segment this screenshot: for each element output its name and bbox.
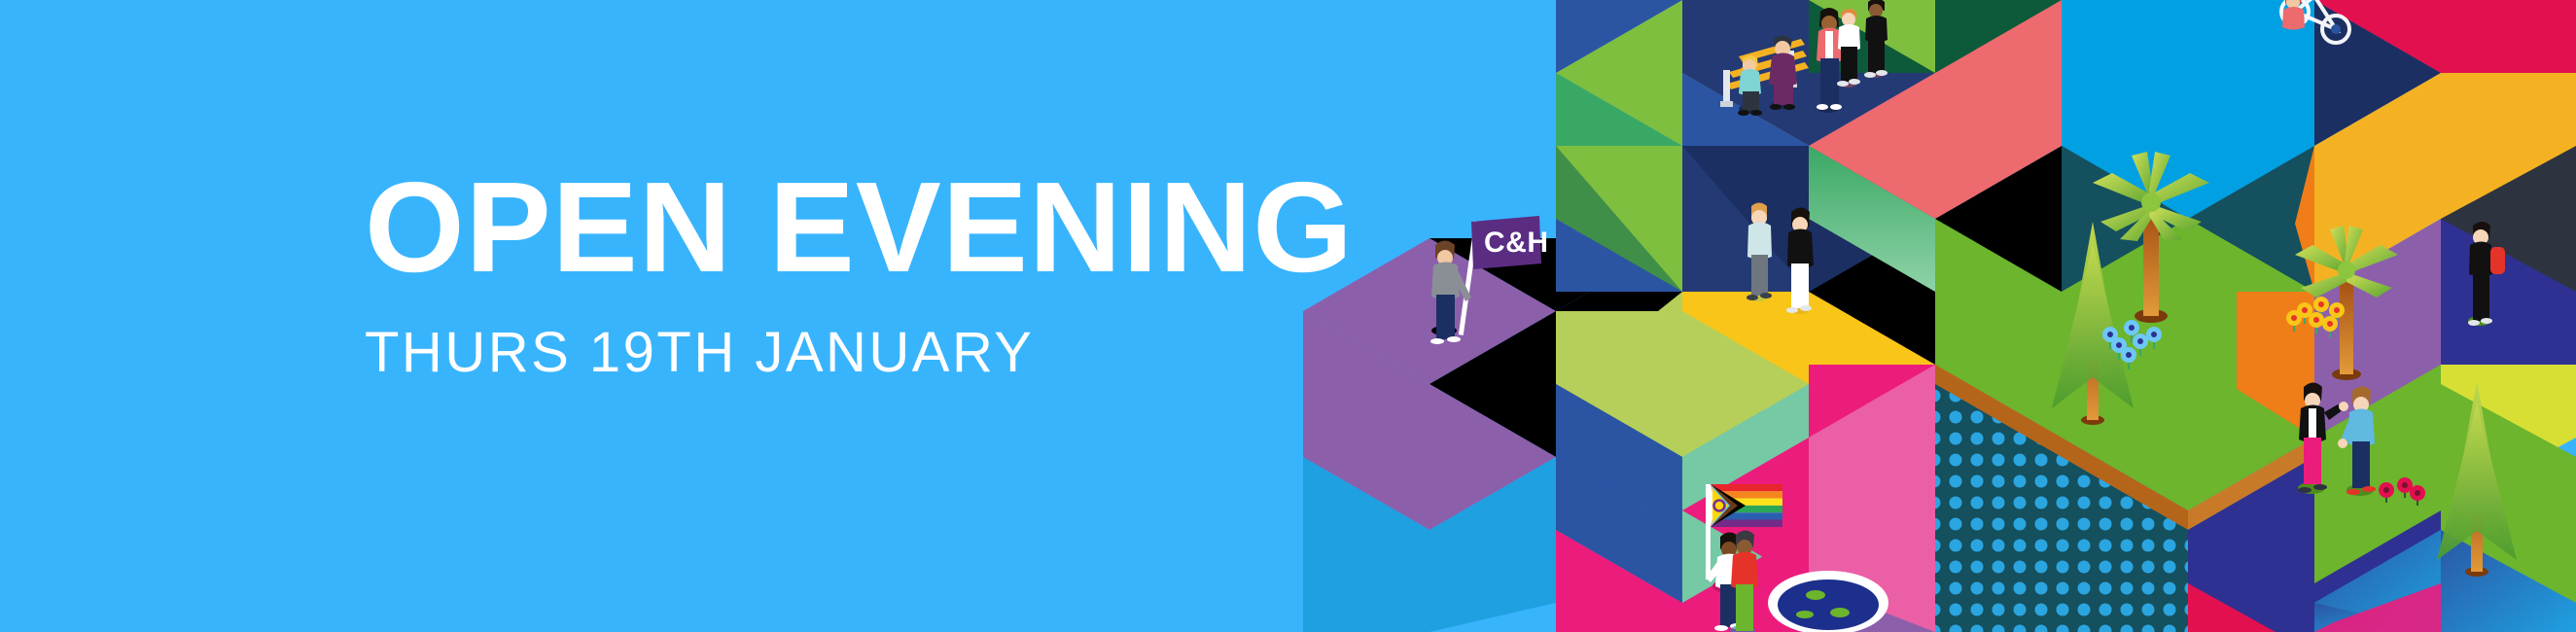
event-date: THURS 19TH JANUARY [365,325,1354,381]
isometric-artwork: C&H [1303,0,2576,632]
page-title: OPEN EVENING [365,163,1354,292]
ch-flag-banner: C&H [1471,216,1549,269]
banner-text-block: OPEN EVENING THURS 19TH JANUARY [365,163,1354,381]
open-evening-banner: OPEN EVENING THURS 19TH JANUARY [0,0,2576,632]
isometric-artwork-svg: C&H [1303,0,2576,632]
flag-label: C&H [1484,227,1549,259]
pride-flag [1711,484,1782,527]
pond [1768,571,1888,632]
